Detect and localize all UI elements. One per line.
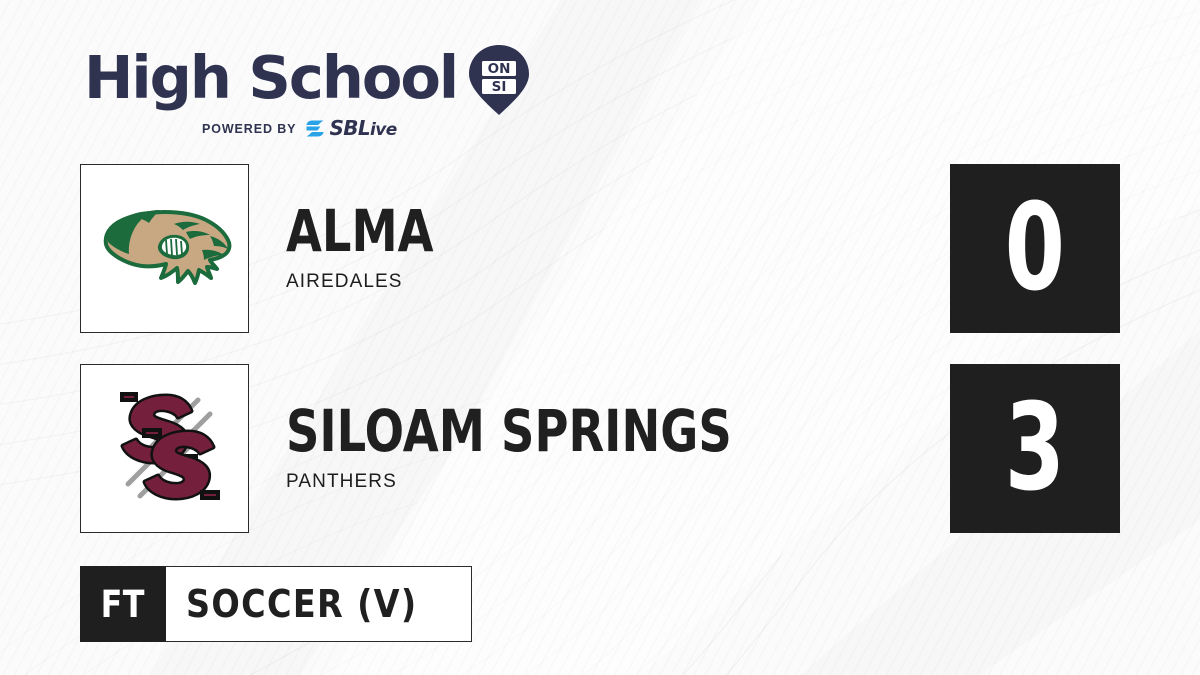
team-name: SILOAM SPRINGS — [286, 404, 732, 459]
team-row: ALMA AIREDALES — [80, 164, 470, 333]
brand-title: High School — [84, 49, 457, 107]
sblive-s-mark-icon — [305, 119, 325, 138]
score-box: 0 — [950, 164, 1120, 333]
team-logo-tile-siloam-springs — [80, 364, 249, 533]
svg-text:ON: ON — [488, 61, 511, 77]
brand-header: High School ON SI POWERED BY — [84, 40, 504, 139]
scoreboard-graphic: High School ON SI POWERED BY — [0, 0, 1200, 675]
powered-by-row: POWERED BY SBLive — [202, 118, 504, 139]
team-logo-tile-alma — [80, 164, 249, 333]
team-info: SILOAM SPRINGS PANTHERS — [286, 404, 843, 494]
interlocking-ss-logo — [90, 374, 240, 524]
team-row: SILOAM SPRINGS PANTHERS — [80, 364, 843, 533]
score-value: 3 — [1005, 389, 1065, 509]
airedale-head-logo — [90, 174, 240, 324]
sblive-ive: ive — [370, 120, 397, 140]
on-si-pin-icon: ON SI — [467, 44, 531, 116]
score-box: 3 — [950, 364, 1120, 533]
sblive-sbl: SBL — [329, 116, 370, 140]
sblive-wordmark: SBLive — [329, 118, 396, 139]
team-info: ALMA AIREDALES — [286, 204, 470, 294]
status-period-badge: FT — [80, 566, 166, 642]
powered-by-label: POWERED BY — [202, 122, 296, 136]
sblive-logo: SBLive — [305, 118, 396, 139]
team-mascot: PANTHERS — [286, 471, 843, 493]
status-sport-panel: SOCCER (V) — [166, 566, 472, 642]
svg-text:SI: SI — [492, 79, 507, 95]
team-name: ALMA — [286, 204, 434, 259]
status-period-label: FT — [101, 586, 145, 623]
status-sport-label: SOCCER (V) — [186, 585, 417, 623]
game-status-bar: FT SOCCER (V) — [80, 566, 472, 642]
score-value: 0 — [1005, 189, 1065, 309]
team-mascot: AIREDALES — [286, 271, 470, 293]
